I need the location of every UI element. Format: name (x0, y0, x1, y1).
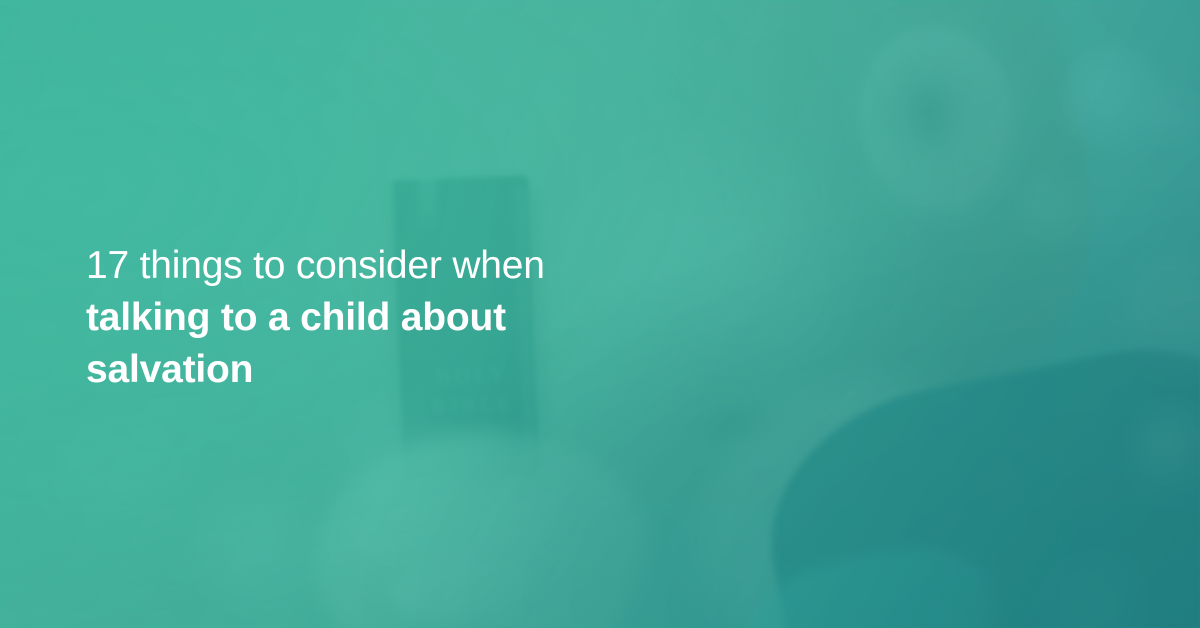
headline: 17 things to consider when talking to a … (86, 240, 606, 396)
hero-banner: HOLYBIBLE 17 things to consider when tal… (0, 0, 1200, 628)
headline-line-2: talking to a child about (86, 292, 606, 344)
headline-line-3: salvation (86, 344, 606, 396)
headline-line-1: 17 things to consider when (86, 240, 606, 292)
